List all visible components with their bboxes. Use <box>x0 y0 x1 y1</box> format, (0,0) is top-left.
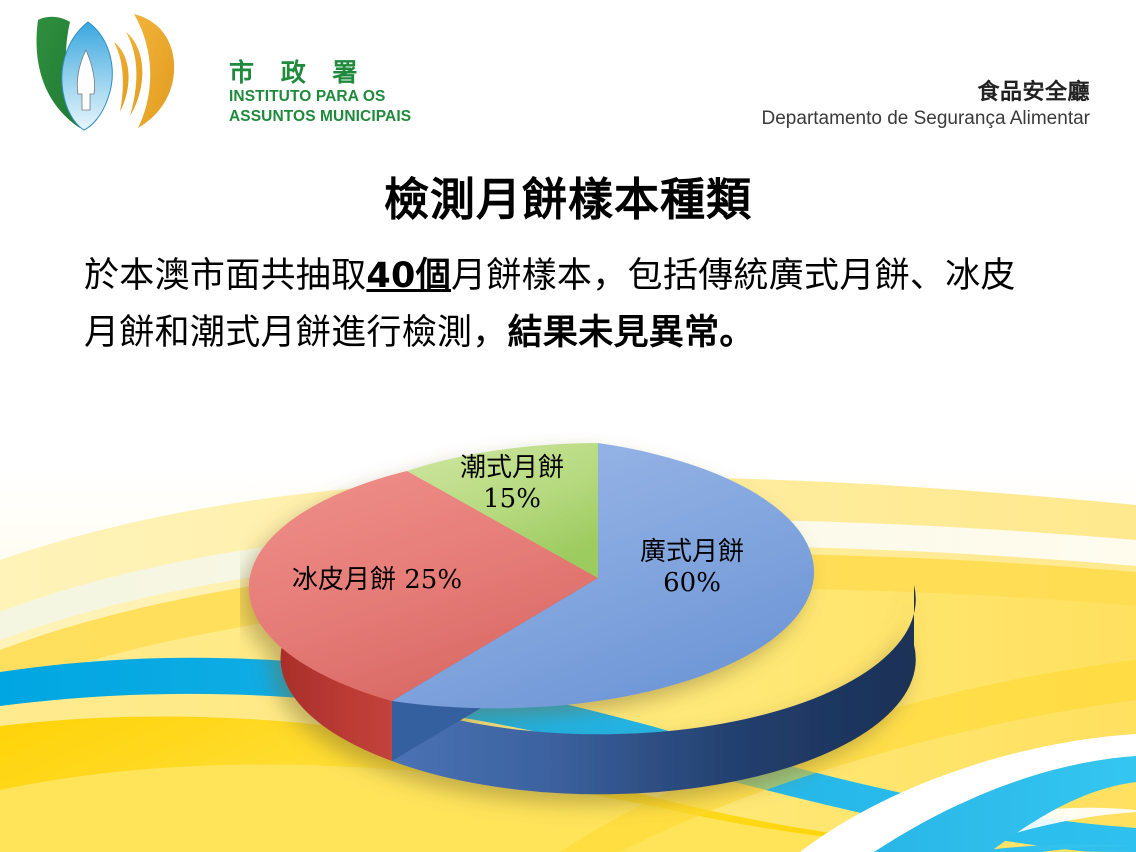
department-title: 食品安全廳 Departamento de Segurança Alimenta… <box>762 80 1090 132</box>
body-conclusion: 結果未見異常。 <box>508 313 755 353</box>
iam-logo: 市 政 署 INSTITUTO PARA OS ASSUNTOS MUNICIP… <box>26 12 426 132</box>
department-name-chinese: 食品安全廳 <box>762 80 1090 106</box>
pie-chart: 廣式月餅 60% 冰皮月餅 25% 潮式月餅 15% <box>240 425 960 835</box>
body-line1-after: 月餅樣本，包括傳統廣式月餅、冰皮 <box>451 256 1016 296</box>
pie-chart-graphic <box>240 425 960 835</box>
department-name-portuguese: Departamento de Segurança Alimentar <box>762 107 1090 132</box>
body-line1-before: 於本澳市面共抽取 <box>84 256 366 296</box>
iam-logo-text: 市 政 署 INSTITUTO PARA OS ASSUNTOS MUNICIP… <box>229 60 439 126</box>
pie-body <box>249 443 916 794</box>
iam-logo-chinese: 市 政 署 <box>229 60 439 86</box>
body-line-1: 於本澳市面共抽取40個月餅樣本，包括傳統廣式月餅、冰皮 <box>84 248 1094 305</box>
slide-canvas: 市 政 署 INSTITUTO PARA OS ASSUNTOS MUNICIP… <box>0 0 1136 852</box>
body-highlight-count: 40個 <box>366 256 451 296</box>
iam-logo-mark <box>26 12 226 132</box>
iam-logo-portuguese-line2: ASSUNTOS MUNICIPAIS <box>229 108 439 126</box>
body-line-2: 月餅和潮式月餅進行檢測，結果未見異常。 <box>84 305 1094 362</box>
slide-title: 檢測月餅樣本種類 <box>0 163 1136 228</box>
body-line2-before: 月餅和潮式月餅進行檢測， <box>84 313 508 353</box>
slide-body-text: 於本澳市面共抽取40個月餅樣本，包括傳統廣式月餅、冰皮 月餅和潮式月餅進行檢測，… <box>84 248 1094 361</box>
iam-logo-portuguese-line1: INSTITUTO PARA OS <box>229 88 439 106</box>
